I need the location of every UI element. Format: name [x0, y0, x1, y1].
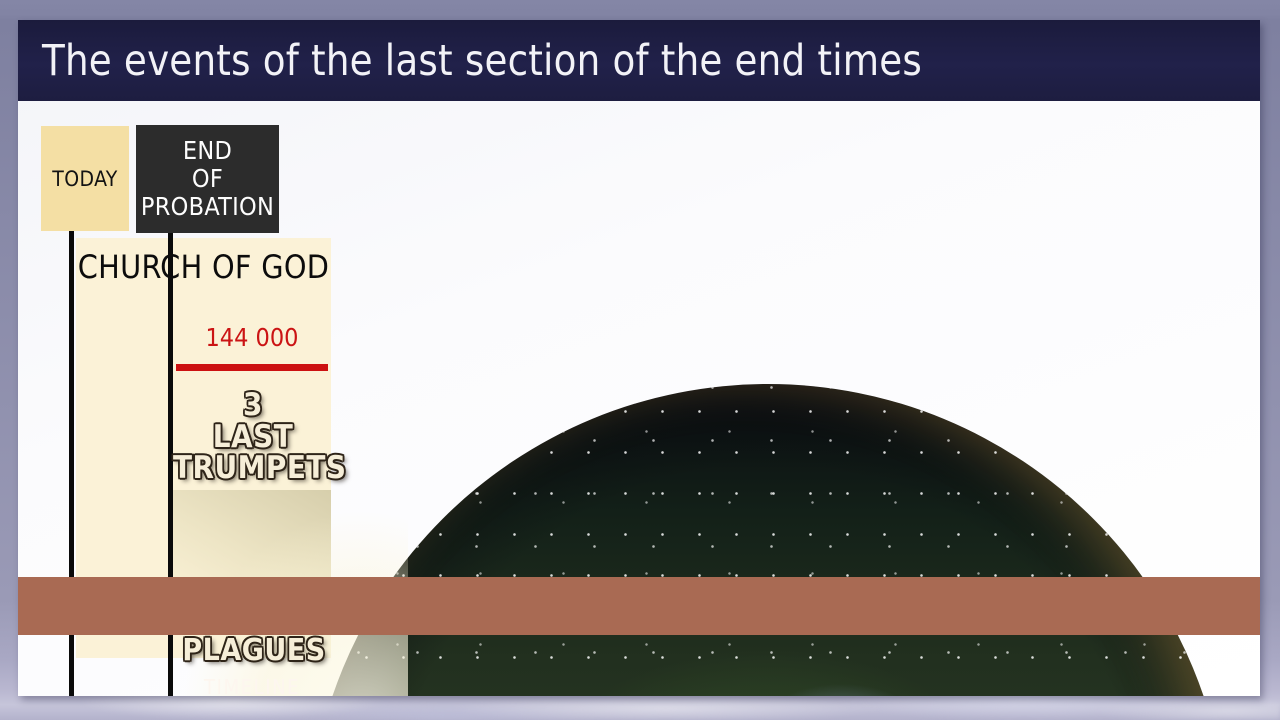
- trumpets-line2: LAST: [173, 422, 333, 454]
- title-band: The events of the last section of the en…: [18, 20, 1260, 101]
- marker-end-of-probation[interactable]: END OF PROBATION: [136, 125, 279, 233]
- marker-probation-line3: PROBATION: [141, 193, 274, 221]
- label-three-last-trumpets: 3 LAST TRUMPETS: [173, 390, 333, 485]
- label-church-of-god: CHURCH OF GOD: [76, 248, 331, 286]
- marker-today[interactable]: TODAY: [41, 126, 129, 231]
- trumpets-line1: 3: [173, 390, 333, 422]
- page-title: The events of the last section of the en…: [42, 36, 922, 86]
- sealed-count-underline: [176, 364, 328, 371]
- label-sealed-count: 144 000: [176, 323, 328, 352]
- timeline-bar: [18, 577, 1260, 635]
- slide-canvas: The events of the last section of the en…: [18, 20, 1260, 696]
- trumpets-line3: TRUMPETS: [173, 453, 333, 485]
- marker-probation-line2: OF: [192, 165, 223, 193]
- marker-today-label: TODAY: [52, 167, 117, 191]
- timeline-label: TIMELINE: [204, 675, 300, 696]
- presentation-stage: The events of the last section of the en…: [0, 0, 1280, 720]
- globe-speckles-icon: [308, 384, 1228, 696]
- marker-probation-line1: END: [183, 137, 232, 165]
